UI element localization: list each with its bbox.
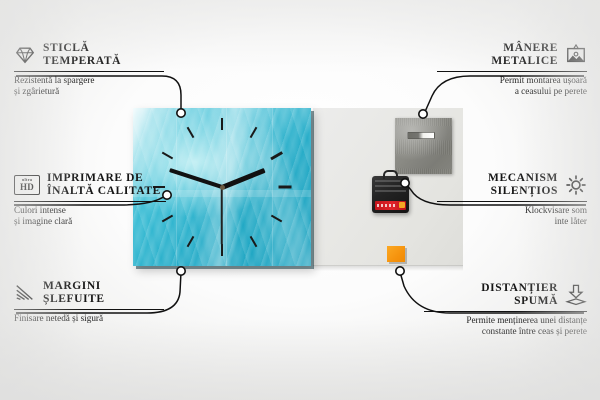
clock-tick	[221, 244, 223, 256]
battery	[375, 201, 406, 210]
diamond-icon	[14, 44, 36, 66]
clock-tick	[270, 151, 283, 160]
callout-foam-subtitle: Permite menținerea unei distanțe constan…	[424, 315, 587, 337]
callout-foam-rule	[424, 311, 587, 312]
clock-tick	[271, 215, 282, 223]
clock-tick	[250, 127, 258, 138]
clock-center-cap	[220, 185, 225, 190]
callout-edges-head: MARGINI ȘLEFUITE	[14, 280, 164, 306]
clock-tick	[279, 186, 292, 189]
callout-glass-subtitle: Rezistentă la spargere și zgârietură	[14, 75, 164, 97]
callout-print-head: ultra HD IMPRIMARE DE ÎNALTĂ CALITATE	[14, 172, 166, 198]
callout-print-subtitle: Culori intense și imagine clară	[14, 205, 166, 227]
callout-print-rule	[14, 201, 166, 202]
callout-edges-subtitle: Finisare netedă și sigură	[14, 313, 164, 324]
clock-tick	[162, 152, 173, 160]
clock-mechanism	[372, 176, 409, 213]
callout-hooks-subtitle: Permit montarea ușoară a ceasului pe per…	[437, 75, 587, 97]
clock-tick	[187, 127, 195, 138]
callout-edges: MARGINI ȘLEFUITE Finisare netedă și sigu…	[14, 280, 164, 324]
hanging-picture-icon	[565, 44, 587, 66]
clock-tick	[221, 118, 223, 130]
callout-mechanism-rule	[437, 201, 587, 202]
connector-node-edges	[177, 267, 185, 275]
clock-tick	[187, 236, 195, 247]
callout-mechanism-head: MECANISM SILENȚIOS	[437, 172, 587, 198]
metal-hanger-plate	[395, 118, 452, 174]
callout-hooks-title: MÂNERE METALICE	[491, 42, 558, 68]
foam-spacer	[387, 246, 405, 262]
clock-tick	[250, 236, 258, 247]
ultra-hd-badge-icon: ultra HD	[14, 175, 40, 195]
callout-print-title: IMPRIMARE DE ÎNALTĂ CALITATE	[47, 172, 161, 198]
callout-hooks: MÂNERE METALICE Permit montarea ușoară a…	[437, 42, 587, 97]
callout-hooks-rule	[437, 71, 587, 72]
callout-glass-rule	[14, 71, 164, 72]
callout-mechanism-subtitle: Klockvisare som inte låter	[437, 205, 587, 227]
callout-foam: DISTANȚIER SPUMĂ Permite menținerea unei…	[424, 282, 587, 337]
callout-edges-rule	[14, 309, 164, 310]
product-scene	[133, 108, 463, 268]
gear-icon	[565, 174, 587, 196]
callout-foam-head: DISTANȚIER SPUMĂ	[424, 282, 587, 308]
mechanism-hanger-loop	[383, 170, 398, 179]
callout-glass-head: STICLĂ TEMPERATĂ	[14, 42, 164, 68]
callout-mechanism-title: MECANISM SILENȚIOS	[488, 172, 558, 198]
callout-hooks-head: MÂNERE METALICE	[437, 42, 587, 68]
callout-mechanism: MECANISM SILENȚIOS Klockvisare som inte …	[437, 172, 587, 227]
callout-glass: STICLĂ TEMPERATĂ Rezistentă la spargere …	[14, 42, 164, 97]
callout-edges-title: MARGINI ȘLEFUITE	[43, 280, 105, 306]
callout-glass-title: STICLĂ TEMPERATĂ	[43, 42, 121, 68]
polished-edges-icon	[14, 282, 36, 304]
hanger-slot	[407, 132, 435, 139]
callout-foam-title: DISTANȚIER SPUMĂ	[481, 282, 558, 308]
mechanism-label	[375, 180, 406, 195]
callout-print: ultra HD IMPRIMARE DE ÎNALTĂ CALITATE Cu…	[14, 172, 166, 227]
spacer-down-arrow-icon	[565, 284, 587, 306]
clock-second-hand	[221, 187, 223, 245]
